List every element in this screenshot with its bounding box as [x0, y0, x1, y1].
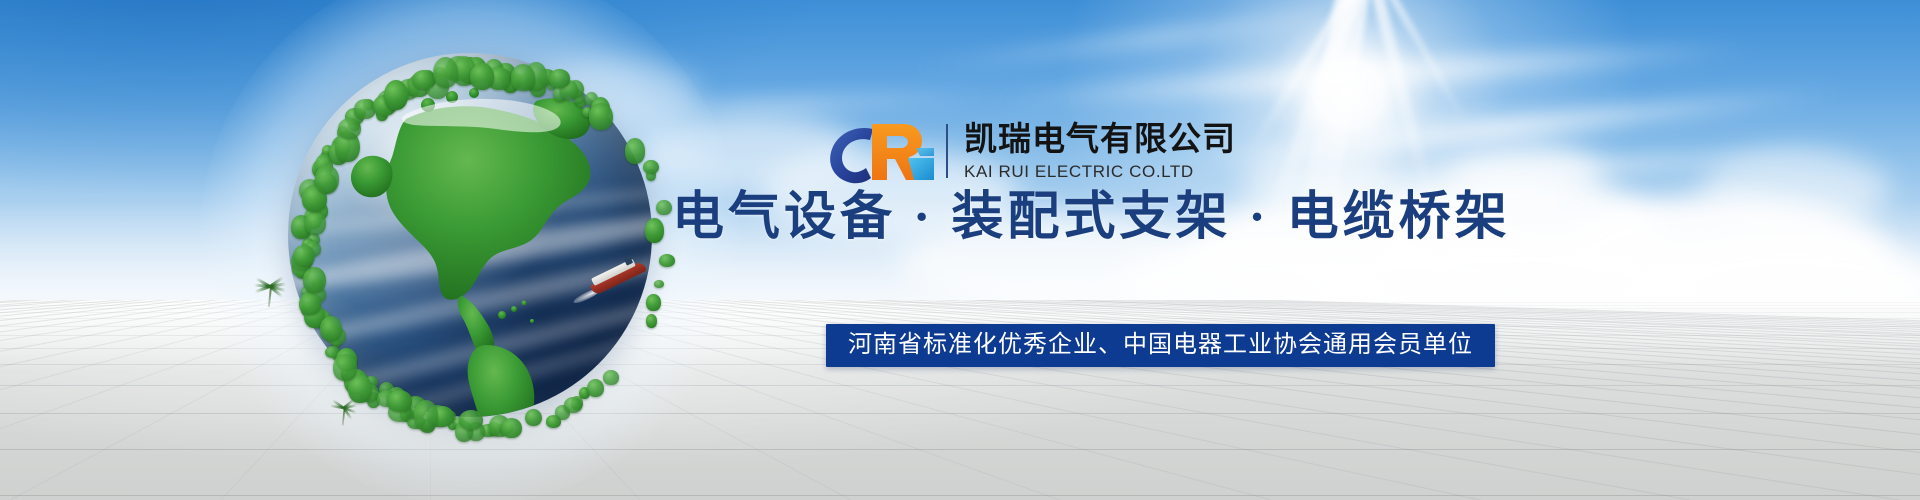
credentials-badge: 河南省标准化优秀企业、中国电器工业协会通用会员单位 [826, 324, 1495, 367]
credentials-badge-text: 河南省标准化优秀企业、中国电器工业协会通用会员单位 [848, 331, 1473, 359]
hero-banner: 凯瑞电气有限公司 KAI RUI ELECTRIC CO.LTD 电气设备 · … [0, 0, 1920, 500]
pavement-joint-line [0, 495, 1920, 496]
brand-block: 凯瑞电气有限公司 KAI RUI ELECTRIC CO.LTD [826, 118, 1236, 184]
americas-landmass-icon [288, 53, 652, 417]
kairui-logo-icon[interactable] [826, 118, 936, 184]
company-name-en: KAI RUI ELECTRIC CO.LTD [964, 161, 1236, 183]
pavement-joint-line [0, 449, 1920, 450]
earth-globe [270, 35, 670, 435]
logo-cr-monogram-icon [826, 118, 936, 184]
globe-sphere [288, 53, 652, 417]
logo-divider [946, 124, 948, 178]
company-name-cn: 凯瑞电气有限公司 [964, 119, 1236, 159]
headline-slogan: 电气设备 · 装配式支架 · 电缆桥架 [672, 186, 1511, 250]
